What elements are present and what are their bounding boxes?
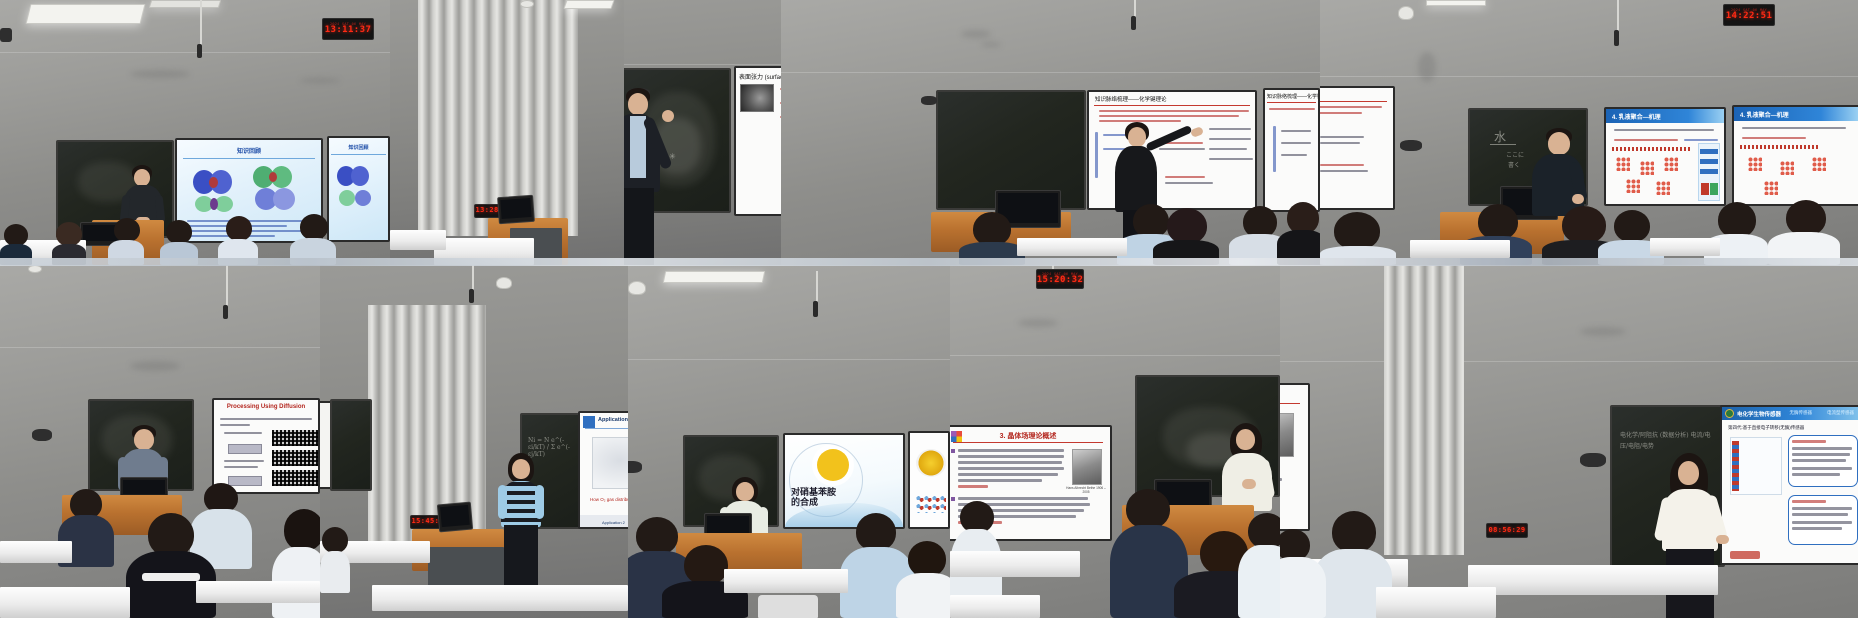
student-desk: [1017, 238, 1127, 256]
chalk-text: 电化学/阿阻抗 (数据分析) 电流/电压/电阻/电势: [1620, 431, 1716, 453]
student-desk: [950, 551, 1080, 577]
student-desk: [724, 569, 848, 593]
micrograph: [272, 470, 318, 486]
micrograph: [272, 450, 318, 466]
student-desk: [0, 587, 130, 618]
window-curtain: [1384, 265, 1464, 555]
student: [320, 527, 350, 593]
ceiling-microphone: [200, 0, 202, 46]
slide-graphic: [916, 495, 946, 513]
slide-photo: [740, 84, 774, 112]
panel-lecture-2[interactable]: 13:28:36: [390, 0, 624, 265]
projection-screen-side[interactable]: 知识回顾: [327, 136, 390, 242]
slide-title-side: 4. 乳液聚合—机理: [1740, 110, 1789, 119]
student: [1768, 200, 1840, 265]
micelle-cluster: [1664, 157, 1678, 171]
front-bench: [390, 230, 446, 250]
ceiling-light: [563, 0, 614, 9]
student-desk: [196, 581, 320, 603]
slide-title: 知识回顾: [183, 146, 316, 155]
projection-screen-main[interactable]: Processing Using Diffusion: [212, 398, 320, 494]
clock-time: 08:56:29: [1489, 527, 1526, 534]
clock-time: 14:22:51: [1726, 12, 1773, 21]
student: [1277, 202, 1320, 265]
slide-content: Processing Using Diffusion: [214, 400, 318, 492]
lecture-bench: [1468, 565, 1718, 595]
student-desk: [1376, 587, 1496, 618]
projection-screen-side[interactable]: [908, 431, 950, 529]
bench-row: [372, 585, 628, 611]
ceiling-camera: [520, 0, 534, 8]
clock-date: 2024 SAT 06 MAY: [330, 23, 366, 27]
lecturer: [624, 88, 668, 265]
wall-speaker: [0, 28, 12, 42]
digital-wall-clock: 2024 SAT 06 MAY 15:20:32: [1036, 269, 1084, 289]
digital-wall-clock: 2024 SAT 06 MAY 14:22:51: [1723, 4, 1775, 26]
slide-title-edge: 3. 晶体场理论概述: [1280, 390, 1308, 401]
clock-time: 13:11:37: [325, 26, 372, 35]
portrait-caption: Hans Albrecht Bethe 1906 – 2005: [1064, 487, 1108, 495]
microphone-head: [1131, 16, 1136, 30]
slide-title: 表面张力 (surface tension): [739, 72, 781, 81]
student-desk: [950, 595, 1040, 618]
portrait-photo-edge: [1280, 413, 1294, 457]
slide-title: 知识脉络梳理——化学键理论: [1095, 95, 1167, 103]
slide-textbox: [1788, 495, 1858, 545]
ceiling-microphone: [1617, 0, 1619, 32]
micelle-cluster: [1640, 161, 1654, 175]
chair: [758, 595, 818, 618]
slide-question: How O₂ gas distribute with height?: [590, 497, 628, 502]
slide-title: Application of Boltzmann distribution: [598, 417, 628, 423]
microphone-head: [197, 44, 202, 58]
projection-screen-main[interactable]: 4. 乳液聚合—机理: [1604, 107, 1726, 206]
slide-content: 电化学生物传感器 无酶传感器 电流型传感器 第四代:基于直接电子转移(无酶)传感…: [1722, 407, 1858, 563]
podium-monitor[interactable]: [497, 195, 535, 224]
student-desk: [0, 541, 72, 563]
student: [1238, 513, 1280, 618]
slide-tag: 无酶传感器: [1790, 410, 1813, 416]
slide-footer-emblem: [1730, 551, 1760, 559]
ceiling-camera: [28, 265, 42, 273]
ceiling-camera: [496, 277, 512, 289]
panel-lecture-4[interactable]: 2024 SAT 06 MAY 14:22:51 知识脉络梳理——化学键理论 水…: [1320, 0, 1858, 265]
micelle-cluster: [1626, 179, 1640, 193]
panel-lecture-1[interactable]: 2024 SAT 06 MAY 13:11:37 知识回顾: [0, 0, 390, 265]
student-desk: [1410, 240, 1510, 258]
micelle-cluster: [1656, 181, 1670, 195]
microphone-head: [813, 301, 818, 317]
panel-lecture-7[interactable]: 对硝基苯胺 的合成: [628, 265, 950, 618]
ceiling-light: [663, 271, 766, 283]
student-desk: [1650, 238, 1720, 256]
slide-tag: 电流型传感器: [1827, 410, 1854, 416]
portrait-photo: [1072, 449, 1102, 485]
blackboard-edge: [330, 399, 372, 491]
ceiling-camera: [628, 281, 646, 295]
slide-content: 表面张力 (surface tension): [736, 68, 781, 214]
student: [896, 541, 950, 618]
slide-title-side: 知识回顾: [331, 144, 385, 151]
seam-strip-students: [0, 258, 1858, 266]
slide-title: 3. 晶体场理论概述: [950, 431, 1110, 441]
clock-date: 2024 SAT 06 MAY: [1042, 273, 1078, 277]
microphone-head: [1614, 30, 1619, 46]
slide-content: 4. 乳液聚合—机理: [1606, 109, 1724, 204]
projection-screen-edge[interactable]: 3. 晶体场理论概述: [1280, 383, 1310, 531]
projection-screen-main[interactable]: 电化学生物传感器 无酶传感器 电流型传感器 第四代:基于直接电子转移(无酶)传感…: [1720, 405, 1858, 565]
lecturer: [498, 453, 544, 593]
slide-illustration: [592, 437, 628, 489]
slide-title: 4. 乳液聚合—机理: [1612, 112, 1661, 121]
ceiling-light: [26, 4, 146, 24]
slide-title-side: 知识脉络梳理——化学键理论: [1267, 93, 1320, 100]
diagram-box: [228, 444, 262, 454]
projection-screen-main[interactable]: 表面张力 (surface tension): [734, 66, 781, 216]
clock-time: 15:20:32: [1037, 276, 1084, 285]
panel-lecture-6[interactable]: 15:45:00 Ni = N e^(-εi/kT) / Σ e^(-εj/kT…: [320, 265, 628, 618]
ceiling-light: [1426, 0, 1486, 6]
panel-lecture-5[interactable]: Processing Using Diffusion: [0, 265, 320, 618]
micrograph: [272, 430, 318, 446]
panel-lecture-8[interactable]: 2024 SAT 06 MAY 15:20:32 3. 晶体场理论概述 Hans…: [950, 265, 1280, 618]
microphone-head: [469, 289, 474, 303]
ceiling-microphone: [472, 265, 474, 291]
clock-date: 2024 SAT 06 MAY: [1731, 9, 1767, 13]
panel-lecture-9[interactable]: 3. 晶体场理论概述 08:56:29 电化学/阿阻抗 (数据分析) 电流/电压…: [1280, 265, 1858, 618]
chalk-text: 水: [1494, 128, 1506, 145]
slide-nav-item[interactable]: Application 2: [602, 520, 625, 525]
slide-emblem: [1725, 409, 1734, 418]
ceiling-microphone: [226, 265, 228, 307]
photo-collage-grid: 2024 SAT 06 MAY 13:11:37 知识回顾: [0, 0, 1858, 618]
slide-logo: [583, 416, 595, 428]
microphone-head: [223, 305, 228, 319]
panel-lecture-3[interactable]: 知识脉络梳理——化学键理论 知识脉络梳理——化学键理论: [781, 0, 1320, 265]
student: [1153, 208, 1219, 265]
projection-screen-edge[interactable]: 知识脉络梳理——化学键理论: [1320, 86, 1395, 210]
student: [1280, 529, 1326, 618]
digital-wall-clock: 2024 SAT 06 MAY 13:11:37: [322, 18, 374, 40]
micelle-cluster: [1616, 157, 1630, 171]
digital-wall-clock: 08:56:29: [1486, 523, 1528, 538]
ceiling-light: [149, 0, 222, 8]
projection-screen-side[interactable]: 4. 乳液聚合—机理: [1732, 105, 1858, 206]
projection-screen-side[interactable]: 知识脉络梳理——化学键理论: [1263, 88, 1320, 212]
ceiling-camera: [1398, 6, 1414, 20]
slide-title: 电化学生物传感器: [1737, 410, 1781, 418]
podium-monitor[interactable]: [437, 502, 473, 533]
slide-title: Processing Using Diffusion: [214, 404, 318, 410]
slide-subhead: 第四代:基于直接电子转移(无酶)传感器: [1728, 425, 1804, 431]
panel-lecture-2-right[interactable]: ✳ 表面张力 (surface tension): [624, 0, 781, 265]
projection-screen-main[interactable]: Application of Boltzmann distribution Ho…: [578, 411, 628, 529]
ceiling-microphone: [816, 271, 818, 303]
slide-content: Application of Boltzmann distribution Ho…: [580, 413, 628, 527]
product-photo: [916, 449, 946, 477]
